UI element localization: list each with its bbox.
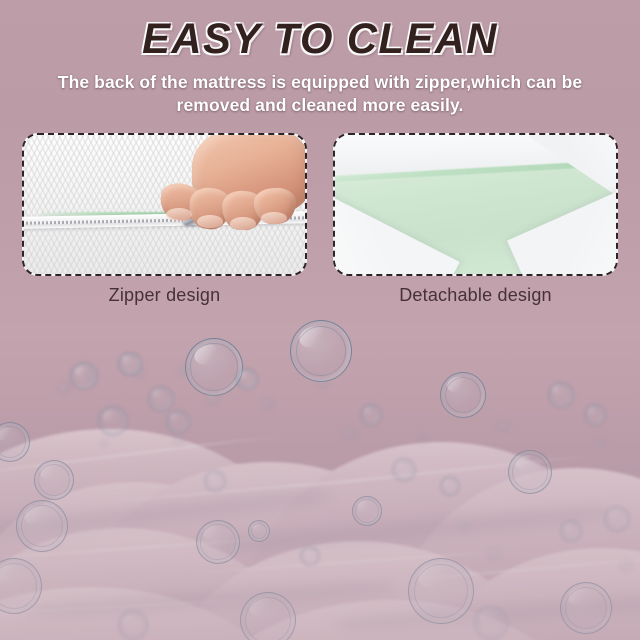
water-bubble [16, 500, 68, 552]
water-bubble [174, 436, 184, 446]
hand-image [153, 133, 307, 243]
water-bubble [620, 560, 632, 572]
fingernail [166, 208, 192, 221]
water-bubble [166, 410, 190, 434]
foam-core-image [335, 135, 616, 274]
water-bubble [206, 392, 219, 405]
fabric-bubbles-scene [0, 310, 640, 640]
header: EASY TO CLEAN The back of the mattress i… [0, 0, 640, 117]
water-bubble [118, 610, 148, 640]
water-bubble [352, 496, 382, 526]
water-bubble [548, 382, 574, 408]
water-bubble [560, 520, 582, 542]
water-bubble [98, 406, 128, 436]
water-bubble [58, 382, 70, 394]
water-bubble [440, 476, 460, 496]
water-bubble [392, 458, 416, 482]
water-bubble [262, 398, 273, 409]
fingernail [261, 212, 287, 224]
water-bubble [178, 366, 187, 375]
water-bubble [508, 450, 552, 494]
water-bubble [196, 520, 240, 564]
water-bubble [100, 440, 108, 448]
water-bubble [344, 428, 356, 440]
water-bubble [290, 320, 352, 382]
feature-panels: Zipper design Detachable design [0, 133, 640, 306]
water-bubble [236, 368, 258, 390]
zipper-photo-frame [22, 133, 307, 276]
water-bubble [408, 558, 474, 624]
water-bubble [300, 546, 320, 566]
water-bubble [204, 470, 226, 492]
water-bubble [248, 520, 270, 542]
water-bubble [86, 372, 95, 381]
water-bubble [604, 506, 630, 532]
water-bubble [584, 404, 606, 426]
water-bubble [185, 338, 243, 396]
fingernail [197, 215, 223, 228]
water-bubble [498, 420, 509, 431]
water-bubble [360, 404, 382, 426]
panel-zipper-design: Zipper design [22, 133, 307, 306]
fingernail [230, 217, 256, 230]
water-bubble [560, 582, 612, 634]
water-bubble [488, 548, 500, 560]
water-bubble [474, 606, 508, 640]
water-bubble [240, 592, 296, 640]
water-bubble [596, 438, 606, 448]
water-bubble [418, 434, 427, 443]
page-title: EASY TO CLEAN [10, 16, 631, 62]
water-bubble [318, 378, 328, 388]
product-infographic: EASY TO CLEAN The back of the mattress i… [0, 0, 640, 640]
water-bubble [460, 522, 470, 532]
panel-caption-zipper: Zipper design [22, 285, 307, 306]
water-bubble [34, 460, 74, 500]
water-bubble [148, 386, 174, 412]
panel-caption-detachable: Detachable design [333, 285, 618, 306]
detachable-photo-frame [333, 133, 618, 276]
water-bubble [440, 372, 486, 418]
panel-detachable-design: Detachable design [333, 133, 618, 306]
water-bubble [134, 368, 144, 378]
page-subtitle: The back of the mattress is equipped wit… [0, 71, 640, 117]
